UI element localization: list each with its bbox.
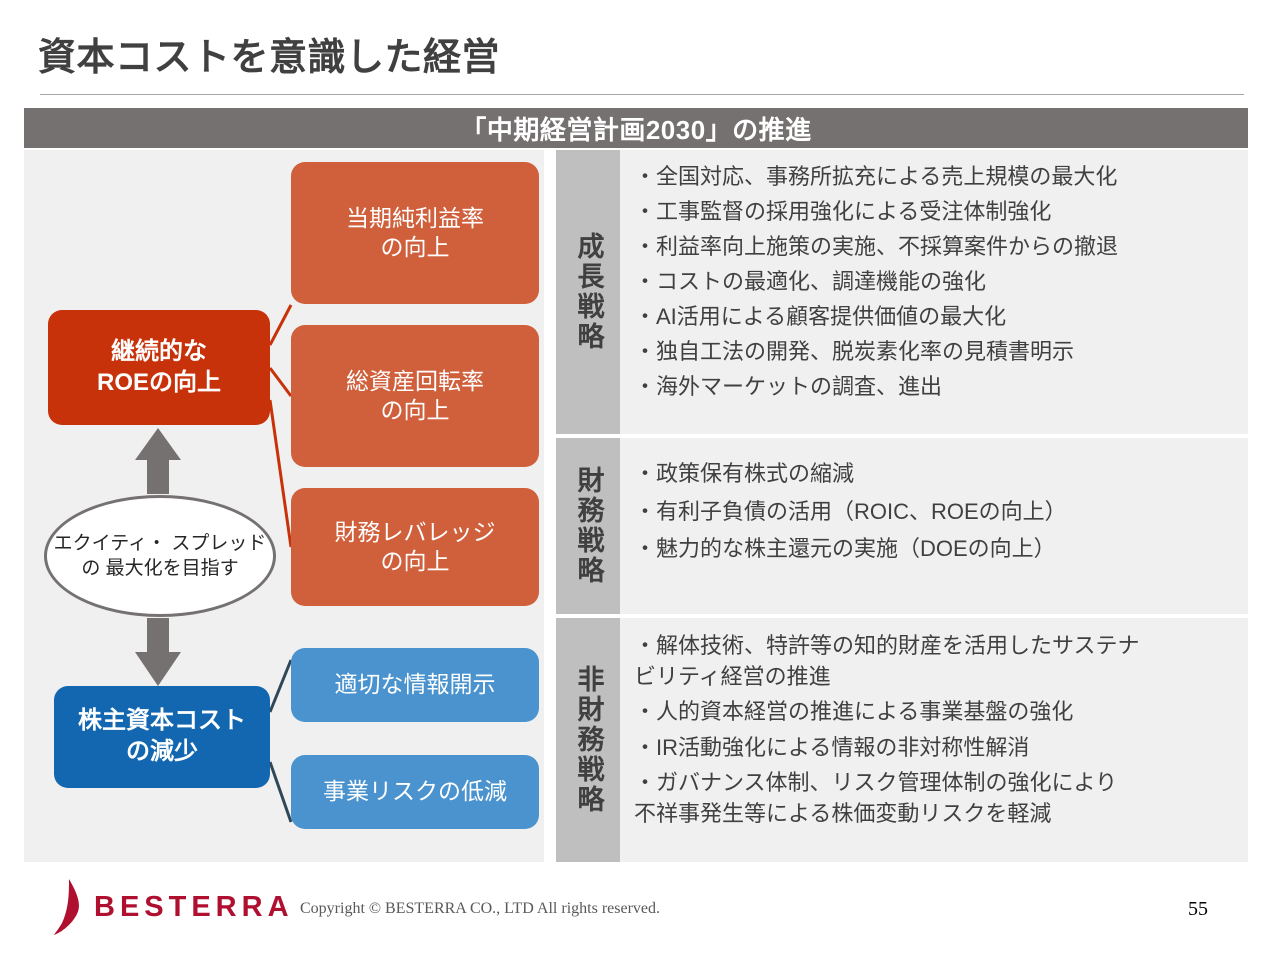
node-equity-spread-line1: エクイティ・ xyxy=(54,533,166,554)
bullet-item: ・独自工法の開発、脱炭素化率の見積書明示 xyxy=(634,335,1242,368)
bullet-item: ・解体技術、特許等の知的財産を活用したサステナ ビリティ経営の推進 xyxy=(634,630,1242,692)
besterra-logo-text: BESTERRA xyxy=(94,891,294,924)
node-net-profit-margin-line1: 当期純利益率 xyxy=(346,204,484,233)
besterra-flame-icon xyxy=(52,878,92,936)
strategy-body-growth: ・全国対応、事務所拡充による売上規模の最大化 ・工事監督の採用強化による受注体制… xyxy=(620,150,1248,434)
bullet-item: ・魅力的な株主還元の実施（DOEの向上） xyxy=(634,531,1242,567)
bullet-item: ・人的資本経営の推進による事業基盤の強化 xyxy=(634,696,1242,727)
node-appropriate-disclosure[interactable]: 適切な情報開示 xyxy=(291,648,539,722)
node-roe-line2: ROEの向上 xyxy=(97,368,221,399)
strategy-label-growth: 成長戦略 xyxy=(556,150,620,434)
bullet-item: ・IR活動強化による情報の非対称性解消 xyxy=(634,732,1242,763)
bullet-item: ・利益率向上施策の実施、不採算案件からの撤退 xyxy=(634,230,1242,263)
node-net-profit-margin-line2: の向上 xyxy=(346,233,484,262)
page-title: 資本コストを意識した経営 xyxy=(38,26,500,81)
strategy-label-non-financial: 非財務戦略 xyxy=(556,618,620,862)
node-asset-turnover-line2: の向上 xyxy=(346,396,484,425)
node-financial-leverage-line1: 財務レバレッジ xyxy=(335,518,496,547)
node-shareholder-cost-reduction[interactable]: 株主資本コスト の減少 xyxy=(54,686,270,788)
node-financial-leverage[interactable]: 財務レバレッジ の向上 xyxy=(291,488,539,606)
bullet-item: ・有利子負債の活用（ROIC、ROEの向上） xyxy=(634,494,1242,530)
bullet-item: ・ガバナンス体制、リスク管理体制の強化により 不祥事発生等による株価変動リスクを… xyxy=(634,767,1242,829)
bullet-item: ・コストの最適化、調達機能の強化 xyxy=(634,265,1242,298)
node-equity-spread[interactable]: エクイティ・ スプレッドの 最大化を目指す xyxy=(44,495,276,617)
node-net-profit-margin[interactable]: 当期純利益率 の向上 xyxy=(291,162,539,304)
page-number: 55 xyxy=(1188,898,1208,921)
node-business-risk-reduction[interactable]: 事業リスクの低減 xyxy=(291,755,539,829)
strategy-label-financial-text: 財務戦略 xyxy=(575,466,602,586)
besterra-logo: BESTERRA xyxy=(52,878,294,936)
node-roe-improvement[interactable]: 継続的な ROEの向上 xyxy=(48,310,270,425)
node-business-risk-reduction-label: 事業リスクの低減 xyxy=(323,777,507,806)
node-appropriate-disclosure-label: 適切な情報開示 xyxy=(335,670,496,699)
strategy-label-growth-text: 成長戦略 xyxy=(575,232,602,352)
node-financial-leverage-line2: の向上 xyxy=(335,547,496,576)
header-band: 「中期経営計画2030」の推進 xyxy=(24,108,1248,148)
header-band-label: 「中期経営計画2030」の推進 xyxy=(460,110,811,147)
strategy-label-non-financial-text: 非財務戦略 xyxy=(575,665,602,815)
copyright-text: Copyright © BESTERRA CO., LTD All rights… xyxy=(300,900,660,918)
strategy-panel: 成長戦略 ・全国対応、事務所拡充による売上規模の最大化 ・工事監督の採用強化によ… xyxy=(556,150,1248,862)
strategy-row-growth: 成長戦略 ・全国対応、事務所拡充による売上規模の最大化 ・工事監督の採用強化によ… xyxy=(556,150,1248,434)
node-roe-line1: 継続的な xyxy=(97,337,221,368)
bullet-item: ・海外マーケットの調査、進出 xyxy=(634,370,1242,403)
bullet-item: ・AI活用による顧客提供価値の最大化 xyxy=(634,300,1242,333)
node-shareholder-cost-line1: 株主資本コスト xyxy=(78,706,246,737)
bullet-item: ・全国対応、事務所拡充による売上規模の最大化 xyxy=(634,160,1242,193)
node-asset-turnover[interactable]: 総資産回転率 の向上 xyxy=(291,325,539,467)
bullet-item: ・工事監督の採用強化による受注体制強化 xyxy=(634,195,1242,228)
strategy-body-financial: ・政策保有株式の縮減 ・有利子負債の活用（ROIC、ROEの向上） ・魅力的な株… xyxy=(620,438,1248,614)
node-shareholder-cost-line2: の減少 xyxy=(78,737,246,768)
strategy-label-financial: 財務戦略 xyxy=(556,438,620,614)
node-asset-turnover-line1: 総資産回転率 xyxy=(346,367,484,396)
strategy-row-financial: 財務戦略 ・政策保有株式の縮減 ・有利子負債の活用（ROIC、ROEの向上） ・… xyxy=(556,438,1248,614)
strategy-row-non-financial: 非財務戦略 ・解体技術、特許等の知的財産を活用したサステナ ビリティ経営の推進 … xyxy=(556,618,1248,862)
node-equity-spread-line3: 最大化を目指す xyxy=(106,558,239,579)
title-divider xyxy=(40,94,1244,95)
strategy-body-non-financial: ・解体技術、特許等の知的財産を活用したサステナ ビリティ経営の推進 ・人的資本経… xyxy=(620,618,1248,862)
bullet-item: ・政策保有株式の縮減 xyxy=(634,456,1242,492)
